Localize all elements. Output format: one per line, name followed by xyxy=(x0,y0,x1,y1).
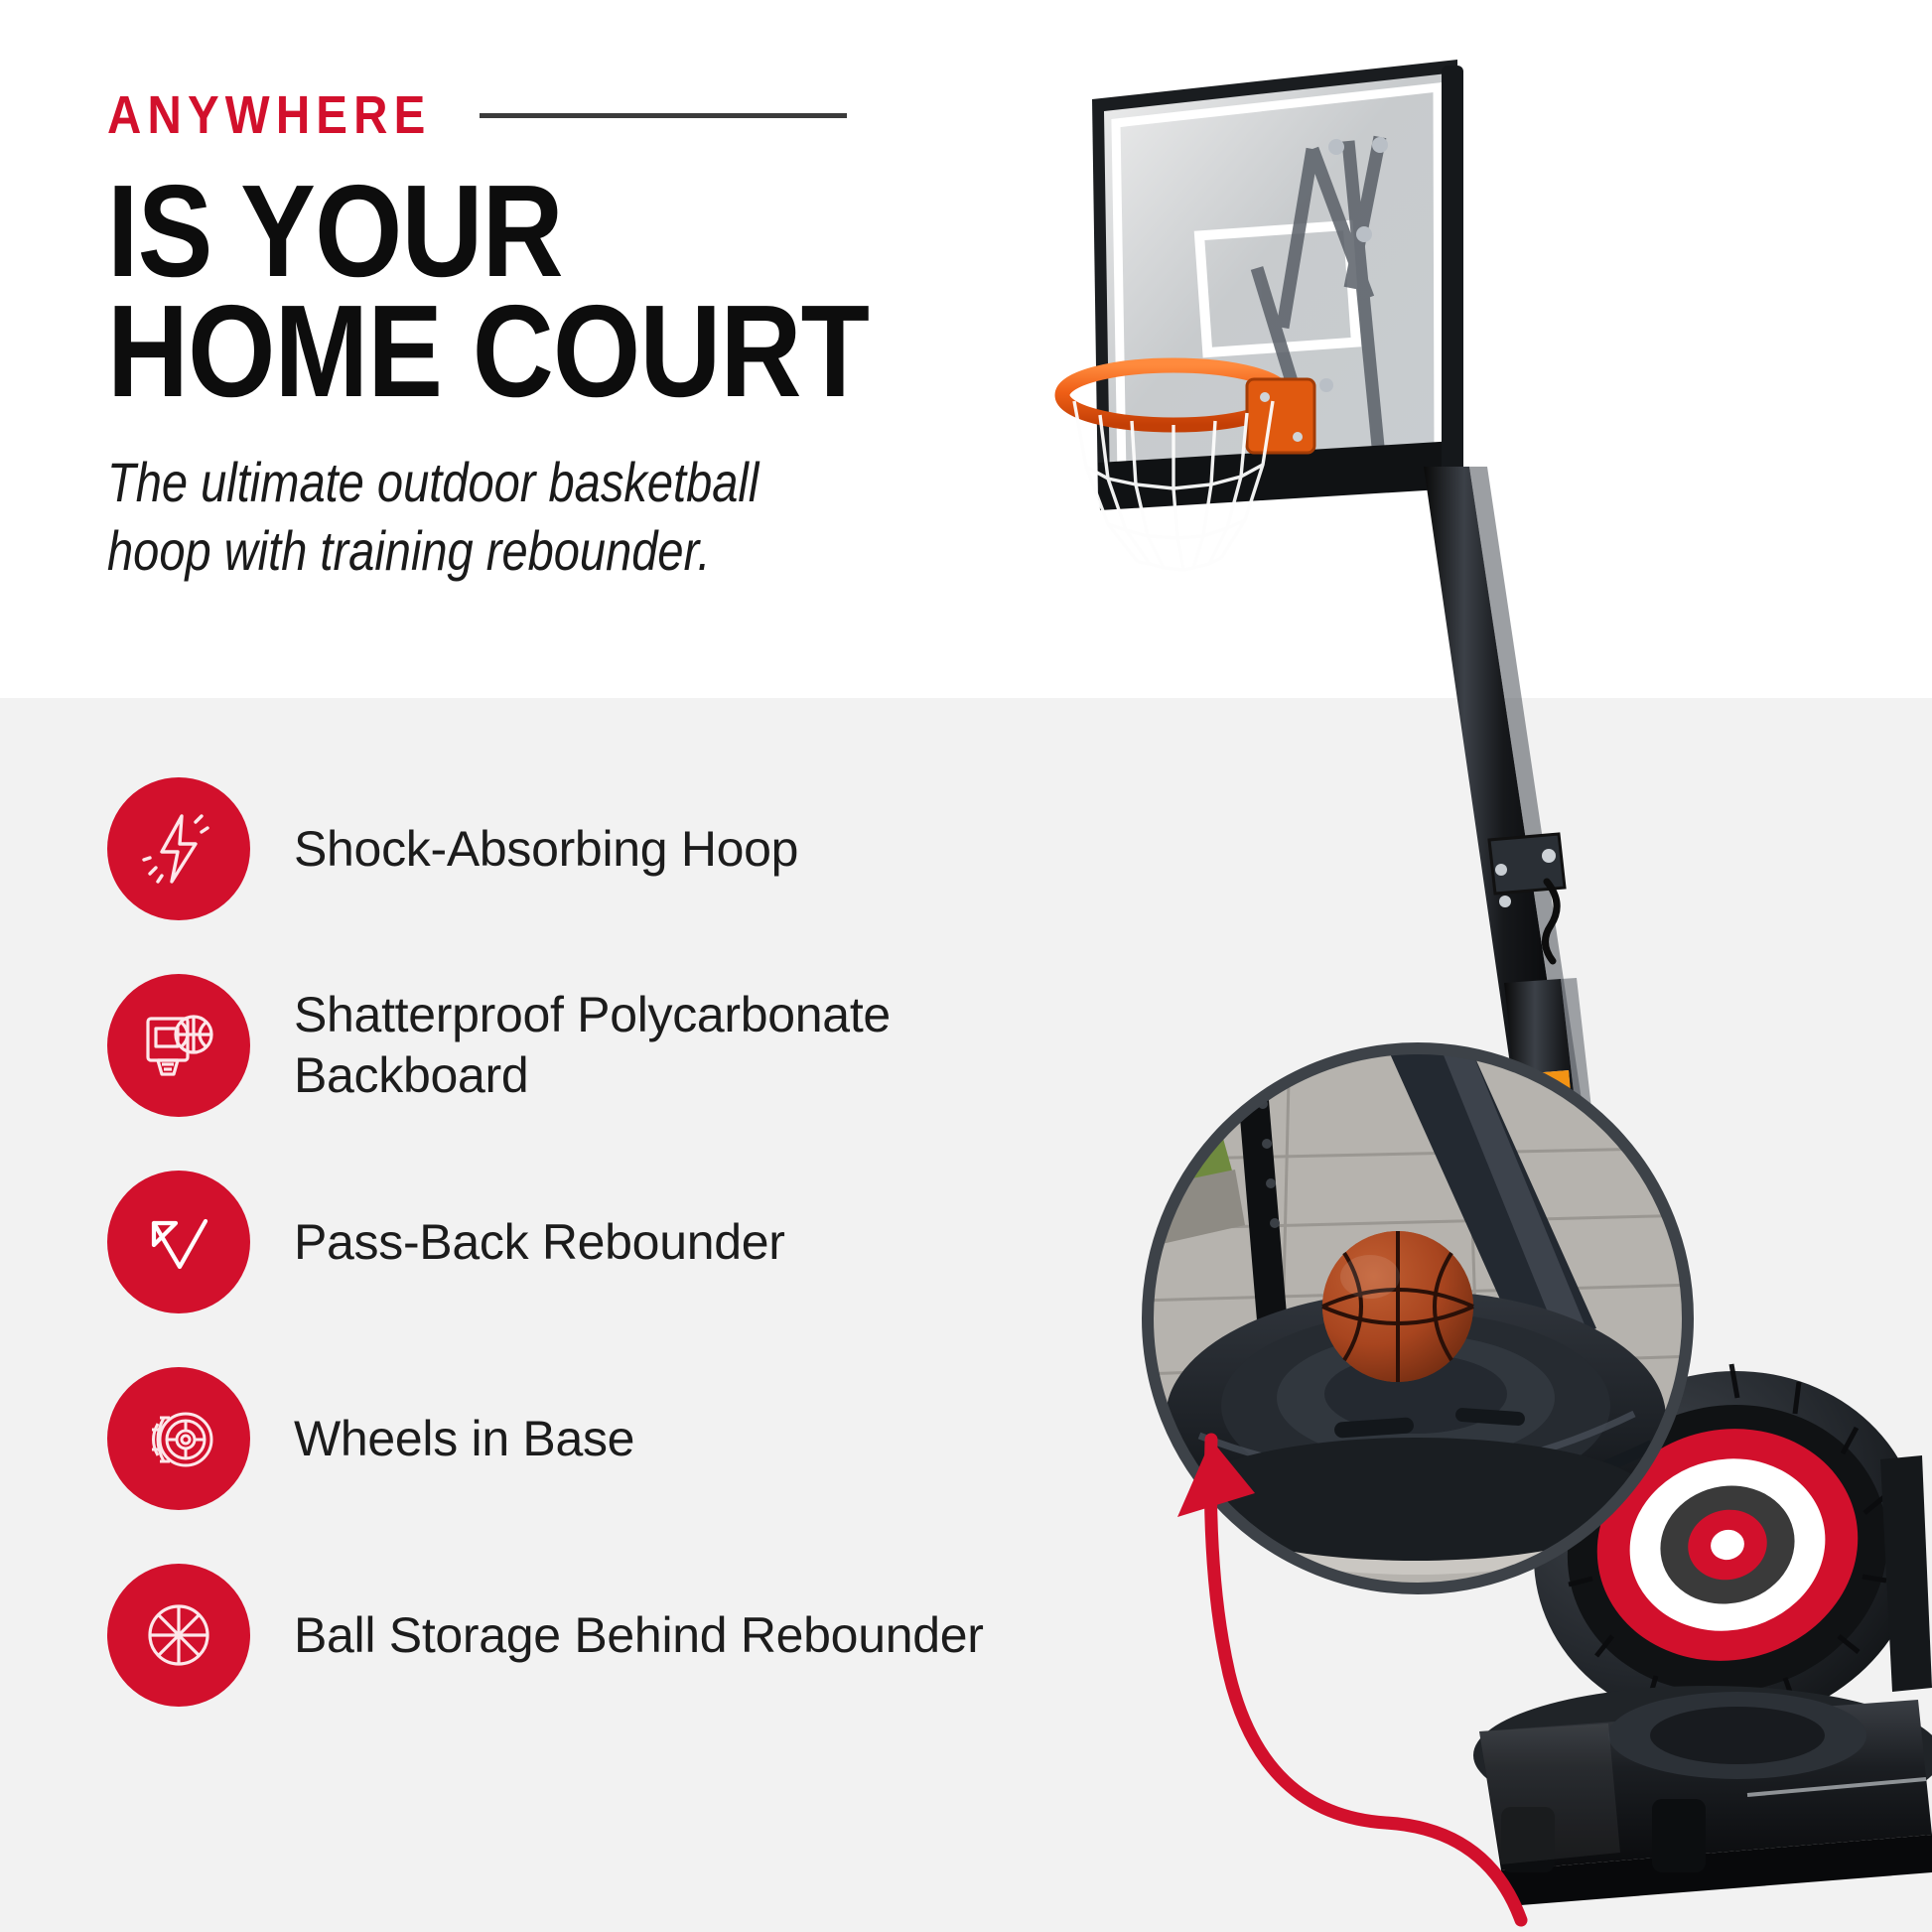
red-curved-arrow xyxy=(1152,1390,1569,1932)
lightning-bolt-icon xyxy=(136,806,221,892)
list-item: Pass-Back Rebounder xyxy=(107,1163,1110,1321)
feature-icon-badge xyxy=(107,974,250,1117)
feature-icon-badge xyxy=(107,777,250,920)
feature-label: Shock-Absorbing Hoop xyxy=(294,819,798,880)
feature-list: Shock-Absorbing Hoop xyxy=(107,769,1110,1715)
feature-label: Pass-Back Rebounder xyxy=(294,1212,785,1273)
bounce-arrow-icon xyxy=(136,1199,221,1285)
list-item: Shatterproof Polycarbonate Backboard xyxy=(107,966,1110,1125)
list-item: Wheels in Base xyxy=(107,1359,1110,1518)
wheel-icon xyxy=(136,1396,221,1481)
feature-icon-badge xyxy=(107,1564,250,1707)
backboard-hoop-ball-icon xyxy=(136,1003,221,1088)
eyebrow-label: ANYWHERE xyxy=(107,88,431,142)
list-item: Shock-Absorbing Hoop xyxy=(107,769,1110,928)
header-text-block: ANYWHERE IS YOUR HOME COURT The ultimate… xyxy=(107,85,1199,586)
subtitle-line-1: The ultimate outdoor basketball xyxy=(107,448,1025,516)
feature-label: Wheels in Base xyxy=(294,1409,634,1469)
headline-line-2: HOME COURT xyxy=(107,291,1046,411)
basketball-icon xyxy=(136,1592,221,1678)
subtitle: The ultimate outdoor basketball hoop wit… xyxy=(107,448,1025,586)
subtitle-line-2: hoop with training rebounder. xyxy=(107,516,1025,585)
feature-icon-badge xyxy=(107,1367,250,1510)
feature-icon-badge xyxy=(107,1171,250,1313)
eyebrow-divider-rule xyxy=(480,113,847,118)
page-title: IS YOUR HOME COURT xyxy=(107,171,1046,412)
feature-label: Ball Storage Behind Rebounder xyxy=(294,1605,984,1666)
feature-label: Shatterproof Polycarbonate Backboard xyxy=(294,985,891,1106)
eyebrow-row: ANYWHERE xyxy=(107,85,1199,145)
basketball-in-base-tray xyxy=(1322,1231,1473,1382)
list-item: Ball Storage Behind Rebounder xyxy=(107,1556,1110,1715)
